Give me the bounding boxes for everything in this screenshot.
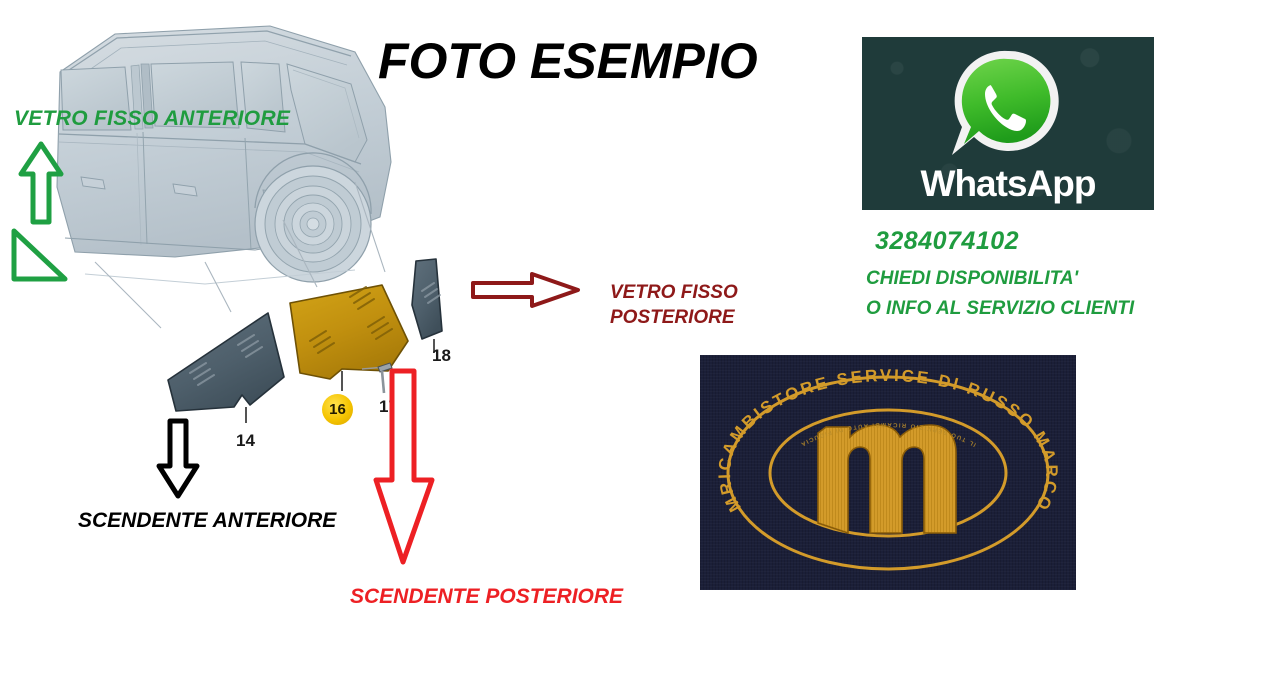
arrow-down-black-icon bbox=[155, 418, 201, 500]
label-rear-fixed-glass-line1: VETRO FISSO bbox=[610, 280, 800, 305]
advertisement-image: 14 18 17 16 VETRO FISSO ANTERIORE VETRO … bbox=[0, 0, 1264, 678]
glass-part-18 bbox=[412, 259, 442, 353]
info-line-2: O INFO AL SERVIZIO CLIENTI bbox=[866, 298, 1134, 320]
label-rear-fixed-glass-line2: POSTERIORE bbox=[610, 305, 800, 330]
shop-logo-mark: MRICAMBISTORE SERVICE DI RUSSO MARCO IL … bbox=[700, 355, 1076, 590]
label-rear-drop-glass: SCENDENTE POSTERIORE bbox=[350, 585, 623, 609]
glass-part-14 bbox=[168, 313, 284, 423]
whatsapp-phone-bubble-icon bbox=[940, 43, 1075, 168]
phone-number[interactable]: 3284074102 bbox=[875, 227, 1019, 256]
shop-logo-monogram bbox=[818, 425, 956, 533]
part-number-18: 18 bbox=[432, 346, 451, 366]
shop-logo-panel: MRICAMBISTORE SERVICE DI RUSSO MARCO IL … bbox=[700, 355, 1076, 590]
page-title: FOTO ESEMPIO bbox=[378, 32, 758, 90]
part-number-16-badge: 16 bbox=[322, 394, 353, 425]
label-rear-fixed-glass: VETRO FISSO POSTERIORE bbox=[610, 280, 800, 330]
part-number-14: 14 bbox=[236, 431, 255, 451]
whatsapp-wordmark: WhatsApp bbox=[862, 163, 1154, 205]
whatsapp-banner: WhatsApp bbox=[862, 37, 1154, 210]
label-front-fixed-glass: VETRO FISSO ANTERIORE bbox=[14, 107, 290, 131]
arrow-up-green-icon bbox=[18, 140, 64, 226]
arrow-down-red-icon bbox=[370, 368, 436, 568]
label-front-drop-glass: SCENDENTE ANTERIORE bbox=[78, 509, 336, 533]
arrow-right-darkred-icon bbox=[470, 270, 582, 310]
triangle-green-icon bbox=[8, 225, 70, 285]
info-line-1: CHIEDI DISPONIBILITA' bbox=[866, 268, 1078, 290]
